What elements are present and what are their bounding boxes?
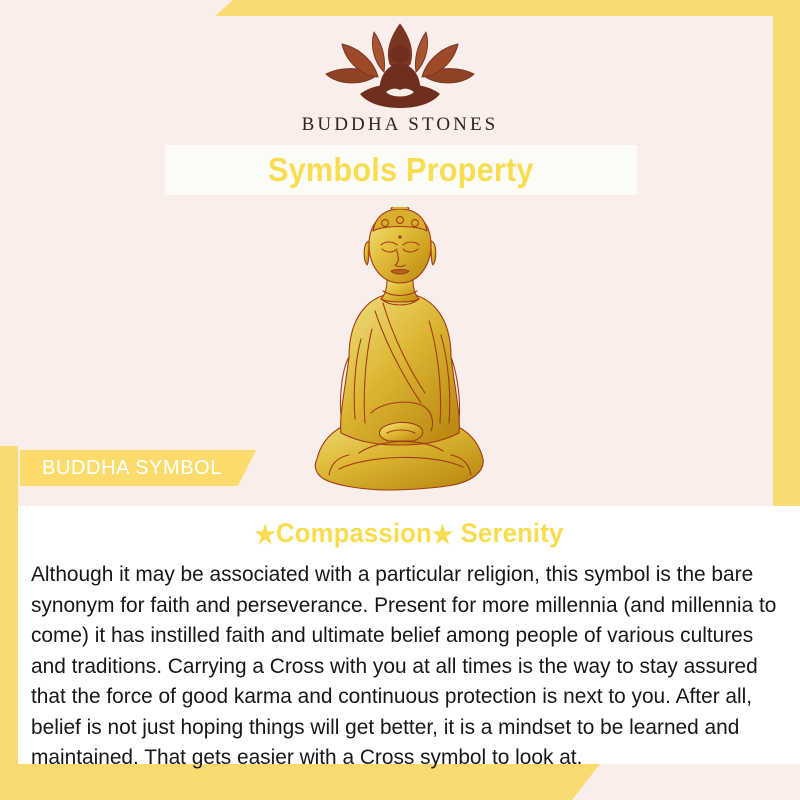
content-panel: ★Compassion★ Serenity Although it may be… [18, 506, 800, 764]
decor-band-top [215, 0, 800, 16]
decor-band-left [0, 446, 18, 782]
star-icon-left: ★ [255, 521, 276, 549]
star-icon-right: ★ [432, 521, 453, 549]
section-ribbon: BUDDHA SYMBOL [20, 450, 256, 486]
page-root: BUDDHA STONES Symbols Property [0, 0, 800, 800]
content-paragraph: Although it may be associated with a par… [31, 559, 783, 773]
lotus-meditation-figure-icon [312, 22, 488, 110]
page-title: Symbols Property [268, 151, 534, 189]
subhead-word-two: Serenity [461, 518, 564, 548]
golden-seated-buddha-image [309, 207, 491, 495]
brand-logo: BUDDHA STONES [0, 22, 800, 136]
content-subheading: ★Compassion★ Serenity [38, 518, 781, 550]
title-banner: Symbols Property [165, 145, 637, 195]
subhead-word-one: Compassion [276, 518, 432, 548]
brand-wordmark: BUDDHA STONES [302, 114, 499, 136]
section-ribbon-label: BUDDHA SYMBOL [42, 457, 222, 480]
